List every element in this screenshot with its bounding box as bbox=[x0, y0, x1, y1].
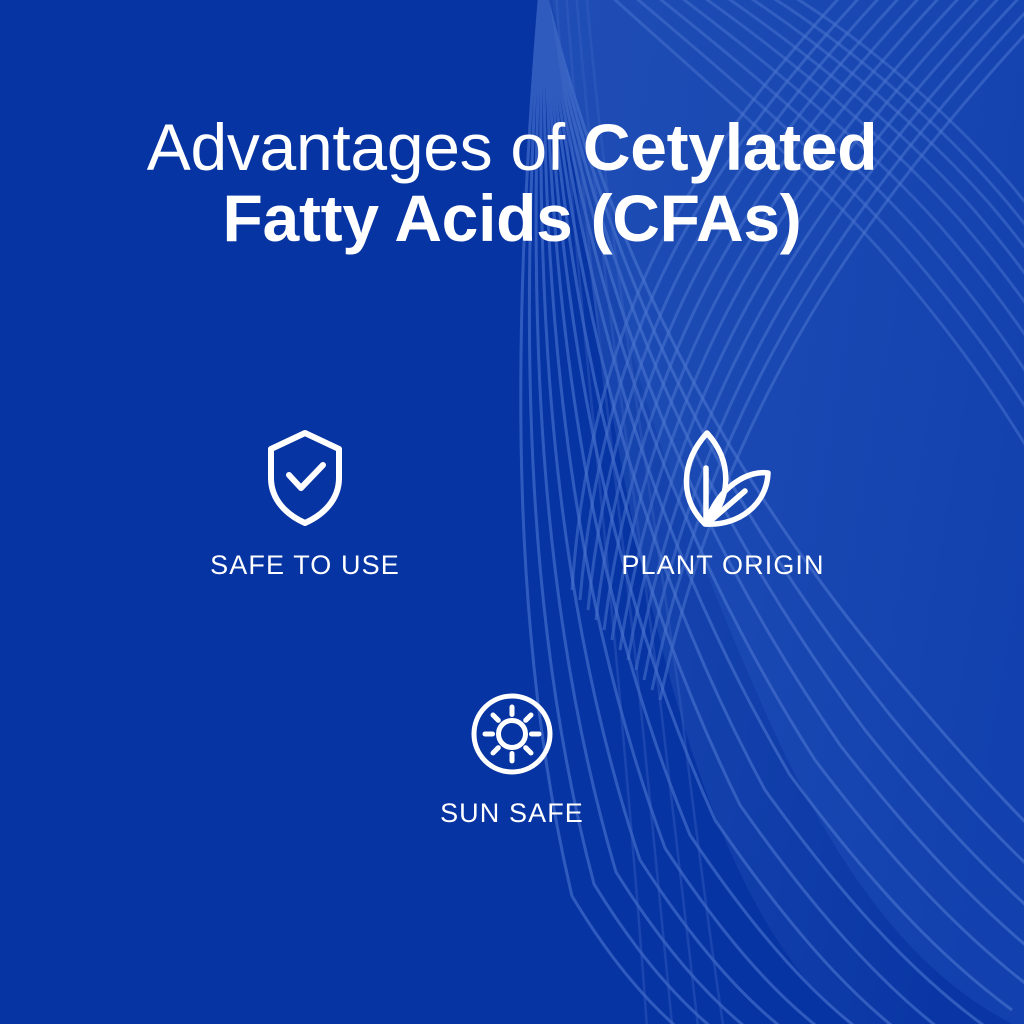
headline-regular-part: Advantages of bbox=[147, 110, 583, 184]
feature-label-safe-to-use: SAFE TO USE bbox=[210, 550, 400, 581]
sun-circle-icon bbox=[470, 692, 554, 776]
shield-check-icon bbox=[265, 428, 345, 528]
feature-label-sun-safe: SUN SAFE bbox=[440, 798, 584, 829]
feature-sun-safe: SUN SAFE bbox=[432, 692, 592, 829]
headline: Advantages of Cetylated Fatty Acids (CFA… bbox=[0, 112, 1024, 253]
headline-line-2: Fatty Acids (CFAs) bbox=[0, 183, 1024, 254]
infographic-card: Advantages of Cetylated Fatty Acids (CFA… bbox=[0, 0, 1024, 1024]
leaf-plant-icon bbox=[675, 428, 771, 528]
feature-plant-origin: PLANT ORIGIN bbox=[628, 428, 818, 581]
headline-bold-part-1: Cetylated bbox=[583, 110, 877, 184]
feature-safe-to-use: SAFE TO USE bbox=[205, 428, 405, 581]
headline-line-1: Advantages of Cetylated bbox=[0, 112, 1024, 183]
feature-label-plant-origin: PLANT ORIGIN bbox=[621, 550, 824, 581]
pattern-curve-family-b bbox=[572, 0, 1024, 700]
